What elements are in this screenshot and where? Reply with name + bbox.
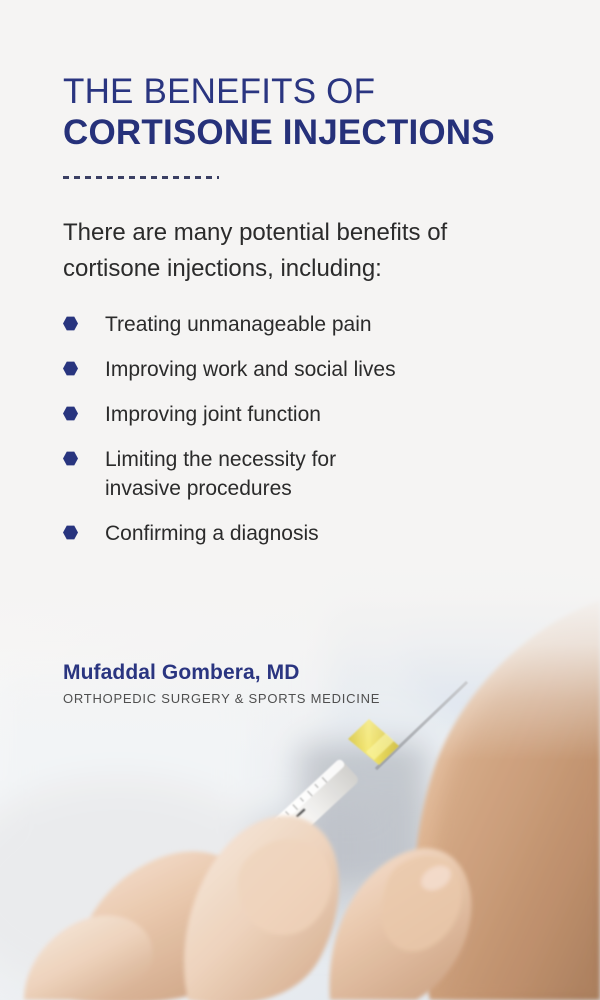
intro-paragraph: There are many potential benefits of cor… — [63, 215, 533, 287]
list-item-label: Confirming a diagnosis — [105, 519, 319, 548]
physician-name: Mufaddal Gombera, MD — [63, 660, 523, 686]
hexagon-bullet-icon — [63, 451, 78, 466]
list-item-label: Improving joint function — [105, 400, 321, 429]
list-item: Improving work and social lives — [63, 355, 543, 384]
cortisone-injection-photo — [0, 560, 600, 1000]
benefits-list: Treating unmanageable pain Improving wor… — [63, 310, 543, 564]
list-item: Limiting the necessity for invasive proc… — [63, 445, 393, 503]
infographic-poster: THE BENEFITS OF CORTISONE INJECTIONS The… — [0, 0, 600, 1000]
dashed-divider — [63, 176, 219, 179]
hexagon-bullet-icon — [63, 316, 78, 331]
list-item-label: Limiting the necessity for invasive proc… — [105, 445, 393, 503]
list-item: Improving joint function — [63, 400, 543, 429]
hexagon-bullet-icon — [63, 525, 78, 540]
physician-specialty: ORTHOPEDIC SURGERY & SPORTS MEDICINE — [63, 690, 523, 707]
hexagon-bullet-icon — [63, 361, 78, 376]
list-item-label: Improving work and social lives — [105, 355, 396, 384]
list-item: Treating unmanageable pain — [63, 310, 543, 339]
physician-signature: Mufaddal Gombera, MD ORTHOPEDIC SURGERY … — [63, 660, 523, 707]
page-title: THE BENEFITS OF CORTISONE INJECTIONS — [63, 72, 563, 154]
page-title-line-2: CORTISONE INJECTIONS — [63, 112, 563, 154]
hexagon-bullet-icon — [63, 406, 78, 421]
page-title-line-1: THE BENEFITS OF — [63, 72, 563, 112]
list-item-label: Treating unmanageable pain — [105, 310, 372, 339]
list-item: Confirming a diagnosis — [63, 519, 543, 548]
